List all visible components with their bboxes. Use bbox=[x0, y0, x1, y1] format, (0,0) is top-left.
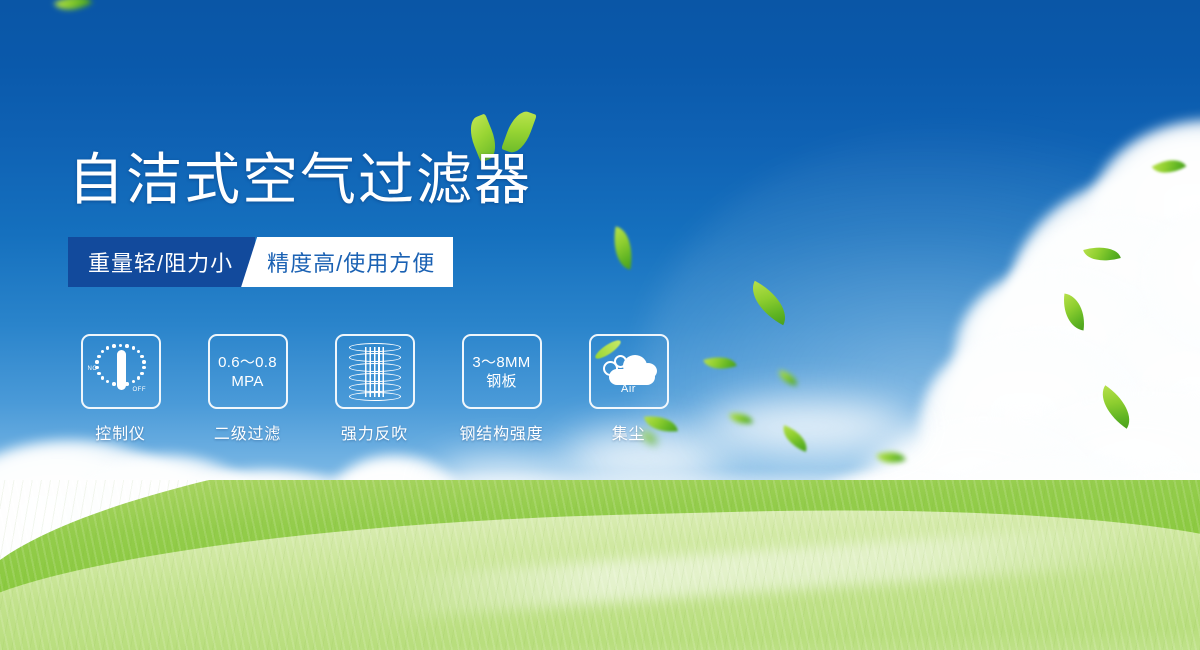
gauge-icon: NO OFF bbox=[88, 342, 154, 402]
gauge-label-no: NO bbox=[88, 366, 98, 372]
feature-icon-box: NO OFF bbox=[81, 334, 161, 409]
feature-item-backblow[interactable]: 强力反吹 bbox=[322, 334, 427, 444]
air-label: Air bbox=[599, 383, 659, 395]
gauge-label-off: OFF bbox=[133, 387, 147, 393]
feature-label: 强力反吹 bbox=[341, 420, 408, 444]
coil-bars bbox=[365, 347, 385, 397]
grass-texture bbox=[0, 480, 1200, 650]
subtitle-light-segment: 精度高/使用方便 bbox=[241, 237, 453, 287]
coil-filter-icon bbox=[349, 343, 401, 401]
subtitle-dark-segment: 重量轻/阻力小 bbox=[68, 237, 255, 287]
grass-field bbox=[0, 480, 1200, 650]
product-hero-banner: 自洁式空气过滤器 重量轻/阻力小 精度高/使用方便 bbox=[0, 0, 1200, 650]
feature-label: 控制仪 bbox=[95, 420, 145, 444]
pressure-unit: MPA bbox=[231, 372, 263, 391]
feature-item-secondary-filter[interactable]: 0.6～0.8 MPA 二级过滤 bbox=[195, 334, 300, 444]
feature-item-steel-strength[interactable]: 3～8MM 钢板 钢结构强度 bbox=[449, 334, 554, 444]
feature-icon-box bbox=[335, 334, 415, 409]
feature-item-dust-collection[interactable]: Air 集尘 bbox=[576, 334, 681, 444]
feature-list: NO OFF 控制仪 0.6～0.8 MPA 二级过滤 bbox=[68, 334, 681, 444]
steel-thickness: 3～8MM bbox=[472, 353, 530, 372]
gauge-needle bbox=[117, 350, 126, 390]
feature-icon-box: 0.6～0.8 MPA bbox=[208, 334, 288, 409]
cloud-wisp-2 bbox=[700, 400, 920, 455]
feature-icon-box: 3～8MM 钢板 bbox=[462, 334, 542, 409]
page-title: 自洁式空气过滤器 bbox=[68, 148, 532, 212]
steel-material: 钢板 bbox=[486, 372, 517, 391]
feature-label: 钢结构强度 bbox=[459, 420, 543, 444]
pressure-value: 0.6～0.8 bbox=[218, 353, 277, 372]
feature-item-controller[interactable]: NO OFF 控制仪 bbox=[68, 334, 173, 444]
feature-label: 集尘 bbox=[612, 420, 646, 444]
feature-label: 二级过滤 bbox=[214, 420, 281, 444]
feature-icon-box: Air bbox=[589, 334, 669, 409]
air-cloud-icon: Air bbox=[599, 347, 659, 397]
subtitle-bar: 重量轻/阻力小 精度高/使用方便 bbox=[68, 237, 453, 287]
